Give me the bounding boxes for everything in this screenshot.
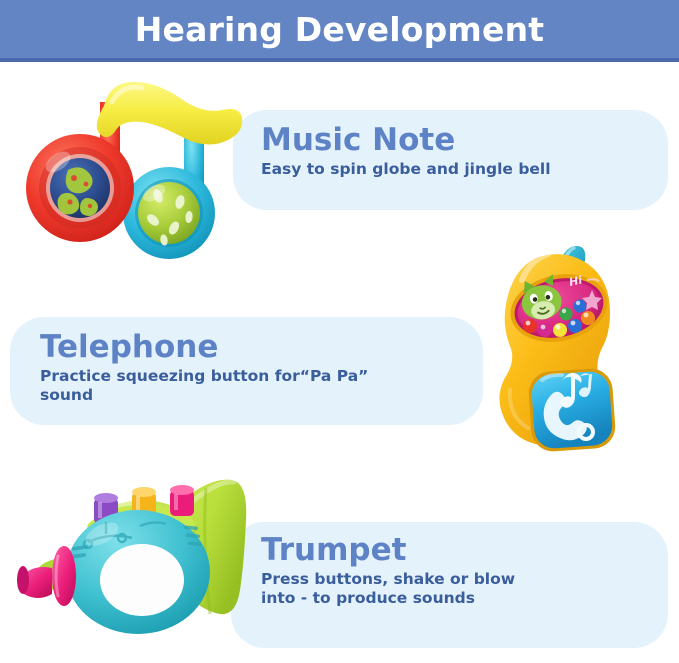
feature-text-music-note: Music Note Easy to spin globe and jingle…: [261, 124, 551, 179]
telephone-illustration: Hi: [492, 240, 652, 462]
feature-text-telephone: Telephone Practice squeezing button for“…: [40, 331, 370, 406]
trumpet-ring-handle[interactable]: [66, 510, 210, 634]
phone-sound-button[interactable]: [527, 367, 616, 453]
trumpet-illustration: [10, 468, 265, 640]
trumpet-mouthpiece: [17, 546, 76, 606]
feature-title-music-note: Music Note: [261, 124, 551, 157]
feature-subtitle-music-note: Easy to spin globe and jingle bell: [261, 160, 551, 180]
music-note-illustration: [8, 78, 244, 258]
feature-title-telephone: Telephone: [40, 331, 370, 364]
feature-subtitle-trumpet: Press buttons, shake or blow into - to p…: [261, 570, 521, 610]
trumpet-button-pink[interactable]: [170, 485, 194, 516]
toy-telephone: Hi: [492, 240, 652, 462]
header-banner: Hearing Development: [0, 0, 679, 62]
page-title: Hearing Development: [135, 13, 545, 46]
toy-trumpet: [10, 468, 265, 640]
feature-title-trumpet: Trumpet: [261, 534, 521, 567]
music-note-rattle-toy: [8, 78, 244, 258]
feature-subtitle-telephone: Practice squeezing button for“Pa Pa” sou…: [40, 367, 370, 407]
feature-text-trumpet: Trumpet Press buttons, shake or blow int…: [261, 534, 521, 609]
